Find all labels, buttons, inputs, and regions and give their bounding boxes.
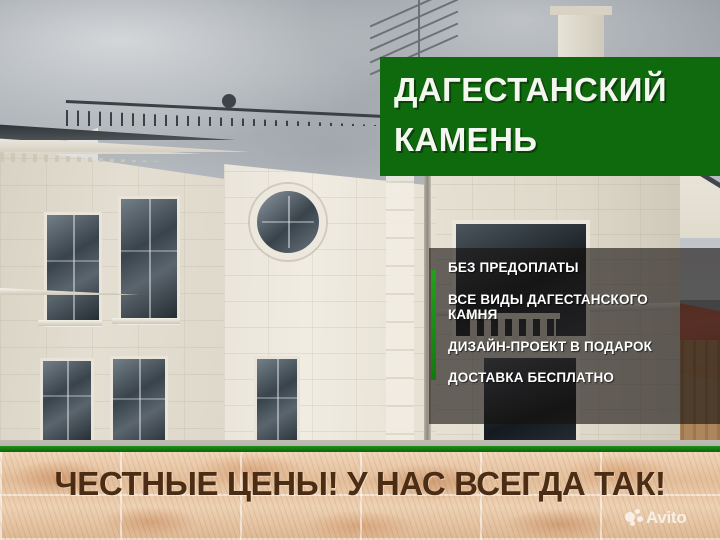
title-banner: ДАГЕСТАНСКИЙ КАМЕНЬ [380, 57, 720, 176]
banner-slogan: ЧЕСТНЫЕ ЦЕНЫ! У НАС ВСЕГДА ТАК! [0, 466, 720, 502]
feature-list: БЕЗ ПРЕДОПЛАТЫ ВСЕ ВИДЫ ДАГЕСТАНСКОГО КА… [448, 260, 716, 402]
feature-item: ДОСТАВКА БЕСПЛАТНО [448, 370, 716, 386]
avito-watermark: Avito [625, 508, 686, 528]
bottom-banner: ЧЕСТНЫЕ ЦЕНЫ! У НАС ВСЕГДА ТАК! [0, 446, 720, 540]
window-sill [38, 320, 102, 326]
title-line-1: ДАГЕСТАНСКИЙ [394, 73, 667, 107]
feature-item: ДИЗАЙН-ПРОЕКТ В ПОДАРОК [448, 339, 716, 355]
window-sill [112, 318, 180, 324]
title-line-2: КАМЕНЬ [394, 123, 537, 157]
window-lower-left [40, 358, 94, 446]
avito-dots-icon [625, 509, 643, 527]
corner-quoins [386, 168, 414, 456]
window-upper-left [44, 212, 102, 326]
advert-image: ДАГЕСТАНСКИЙ КАМЕНЬ БЕЗ ПРЕДОПЛАТЫ ВСЕ В… [0, 0, 720, 540]
round-window [250, 184, 326, 260]
feature-item: ВСЕ ВИДЫ ДАГЕСТАНСКОГО КАМНЯ [448, 292, 694, 323]
window-upper-front [118, 196, 180, 324]
green-accent-bar [431, 270, 436, 380]
feature-item: БЕЗ ПРЕДОПЛАТЫ [448, 260, 716, 276]
window-lower-right [254, 356, 300, 452]
avito-wordmark: Avito [646, 508, 686, 528]
chimney-cap [550, 6, 612, 15]
roof-finial [222, 94, 236, 108]
features-panel: БЕЗ ПРЕДОПЛАТЫ ВСЕ ВИДЫ ДАГЕСТАНСКОГО КА… [429, 248, 720, 424]
